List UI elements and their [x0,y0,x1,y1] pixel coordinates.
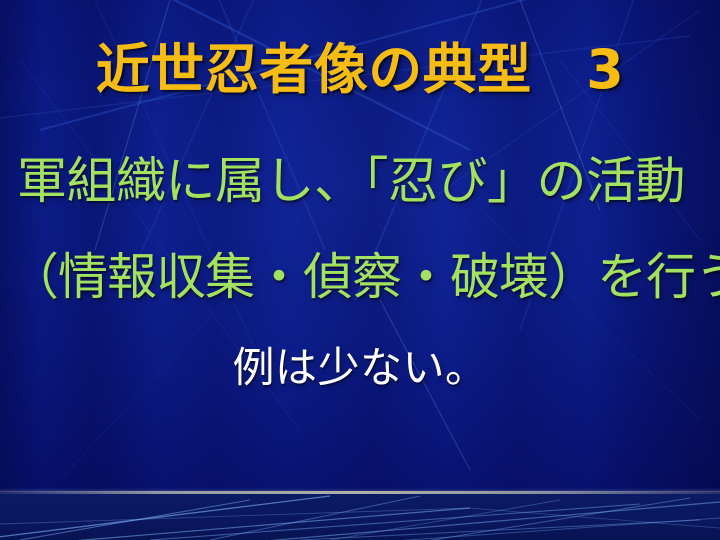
presentation-slide: 近世忍者像の典型 3 軍組織に属し、「忍び」の活動 （情報収集・偵察・破壊）を行… [0,0,720,540]
body-line-1: 軍組織に属し、「忍び」の活動 [17,156,685,206]
slide-subnote: 例は少ない。 [0,347,720,389]
footer-band [0,494,720,540]
slide-title: 近世忍者像の典型 3 [0,41,720,99]
body-line-2: （情報収集・偵察・破壊）を行う。 [9,252,720,302]
